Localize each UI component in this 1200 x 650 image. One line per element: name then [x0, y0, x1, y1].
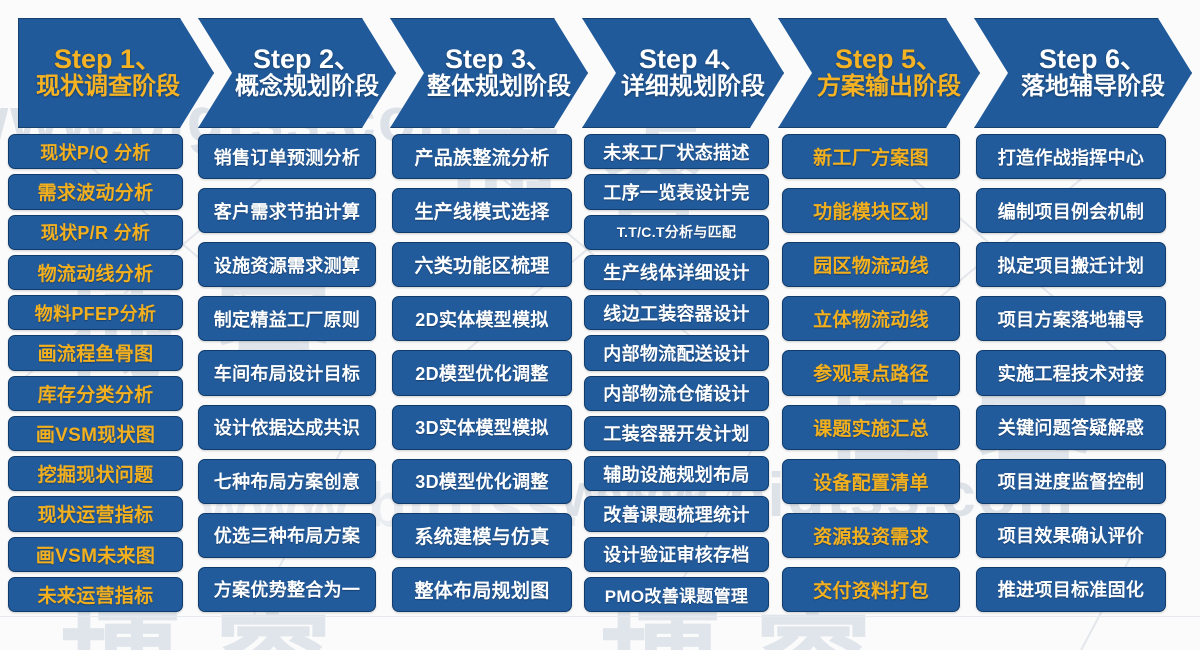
- bottom-divider: [0, 616, 1200, 617]
- step-chevron-6-line2: 落地辅导阶段: [985, 74, 1200, 101]
- task-pill[interactable]: 实施工程技术对接: [976, 350, 1166, 395]
- step-chevron-1[interactable]: Step 1、 现状调查阶段: [18, 18, 214, 128]
- task-pill[interactable]: 立体物流动线: [782, 296, 960, 341]
- step-chevron-3-inner: Step 3、 整体规划阶段: [401, 45, 597, 100]
- task-pill[interactable]: 销售订单预测分析: [198, 134, 376, 179]
- task-pill[interactable]: 3D模型优化调整: [392, 459, 572, 504]
- task-pill[interactable]: 设计验证审核存档: [584, 537, 769, 572]
- step-chevron-4-inner: Step 4、 详细规划阶段: [593, 45, 793, 100]
- task-pill[interactable]: 项目效果确认评价: [976, 513, 1166, 558]
- step-chevron-1-line2: 现状调查阶段: [11, 74, 205, 101]
- task-pill[interactable]: T.T/C.T分析与匹配: [584, 215, 769, 250]
- task-pill[interactable]: 方案优势整合为一: [198, 567, 376, 612]
- task-pill[interactable]: 改善课题梳理统计: [584, 496, 769, 531]
- step-chevron-3-line1: Step 3、: [401, 45, 597, 74]
- step-header-row: Step 1、 现状调查阶段 Step 2、 概念规划阶段 Step 3、 整体…: [0, 18, 1200, 128]
- task-pill[interactable]: 七种布局方案创意: [198, 459, 376, 504]
- task-pill[interactable]: 六类功能区梳理: [392, 242, 572, 287]
- step-chevron-2-inner: Step 2、 概念规划阶段: [209, 45, 405, 100]
- step-chevron-2[interactable]: Step 2、 概念规划阶段: [198, 18, 396, 128]
- task-pill[interactable]: 画流程鱼骨图: [8, 335, 183, 370]
- task-pill[interactable]: 未来工厂状态描述: [584, 134, 769, 169]
- task-pill[interactable]: 参观景点路径: [782, 350, 960, 395]
- task-pill[interactable]: 工装容器开发计划: [584, 416, 769, 451]
- task-pill[interactable]: 功能模块区划: [782, 188, 960, 233]
- task-pill[interactable]: 资源投资需求: [782, 513, 960, 558]
- task-pill[interactable]: 整体布局规划图: [392, 567, 572, 612]
- task-pill[interactable]: 画VSM未来图: [8, 537, 183, 572]
- task-pill[interactable]: 客户需求节拍计算: [198, 188, 376, 233]
- step-chevron-1-inner: Step 1、 现状调查阶段: [11, 45, 205, 100]
- task-pill[interactable]: 画VSM现状图: [8, 416, 183, 451]
- task-column-1: 现状P/Q 分析需求波动分析现状P/R 分析物流动线分析物料PFEP分析画流程鱼…: [8, 134, 183, 612]
- task-pill[interactable]: 内部物流仓储设计: [584, 376, 769, 411]
- step-chevron-4-line1: Step 4、: [593, 45, 793, 74]
- task-pill[interactable]: 库存分类分析: [8, 376, 183, 411]
- task-pill[interactable]: 物料PFEP分析: [8, 295, 183, 330]
- task-pill[interactable]: 现状P/Q 分析: [8, 134, 183, 169]
- task-pill[interactable]: 设施资源需求测算: [198, 242, 376, 287]
- task-pill[interactable]: 产品族整流分析: [392, 134, 572, 179]
- step-chevron-2-line2: 概念规划阶段: [209, 74, 405, 101]
- task-pill[interactable]: 园区物流动线: [782, 242, 960, 287]
- step-chevron-6-inner: Step 6、 落地辅导阶段: [985, 45, 1200, 100]
- step-chevron-6[interactable]: Step 6、 落地辅导阶段: [974, 18, 1192, 128]
- task-column-6: 打造作战指挥中心编制项目例会机制拟定项目搬迁计划项目方案落地辅导实施工程技术对接…: [976, 134, 1166, 612]
- task-pill[interactable]: 工序一览表设计完: [584, 174, 769, 209]
- task-pill[interactable]: 生产线模式选择: [392, 188, 572, 233]
- task-pill[interactable]: 未来运营指标: [8, 577, 183, 612]
- task-pill[interactable]: 新工厂方案图: [782, 134, 960, 179]
- step-chevron-5-line1: Step 5、: [789, 45, 989, 74]
- task-pill[interactable]: 车间布局设计目标: [198, 350, 376, 395]
- task-pill[interactable]: 现状P/R 分析: [8, 215, 183, 250]
- task-pill[interactable]: 3D实体模型模拟: [392, 405, 572, 450]
- task-pill[interactable]: 项目方案落地辅导: [976, 296, 1166, 341]
- task-pill[interactable]: 编制项目例会机制: [976, 188, 1166, 233]
- step-chevron-5-line2: 方案输出阶段: [789, 74, 989, 101]
- step-chevron-4[interactable]: Step 4、 详细规划阶段: [582, 18, 784, 128]
- task-pill[interactable]: 打造作战指挥中心: [976, 134, 1166, 179]
- task-pill[interactable]: 生产线体详细设计: [584, 255, 769, 290]
- task-pill[interactable]: 关键问题答疑解惑: [976, 405, 1166, 450]
- task-pill[interactable]: 项目进度监督控制: [976, 459, 1166, 504]
- task-pill[interactable]: 内部物流配送设计: [584, 335, 769, 370]
- task-column-5: 新工厂方案图功能模块区划园区物流动线立体物流动线参观景点路径课题实施汇总设备配置…: [782, 134, 960, 612]
- task-pill[interactable]: 辅助设施规划布局: [584, 456, 769, 491]
- task-pill[interactable]: 现状运营指标: [8, 496, 183, 531]
- task-columns: 现状P/Q 分析需求波动分析现状P/R 分析物流动线分析物料PFEP分析画流程鱼…: [0, 134, 1200, 616]
- task-pill[interactable]: 制定精益工厂原则: [198, 296, 376, 341]
- step-chevron-5[interactable]: Step 5、 方案输出阶段: [778, 18, 980, 128]
- step-chevron-2-line1: Step 2、: [209, 45, 405, 74]
- task-column-4: 未来工厂状态描述工序一览表设计完T.T/C.T分析与匹配生产线体详细设计线边工装…: [584, 134, 769, 612]
- task-pill[interactable]: 设计依据达成共识: [198, 405, 376, 450]
- task-pill[interactable]: 拟定项目搬迁计划: [976, 242, 1166, 287]
- task-pill[interactable]: 2D模型优化调整: [392, 350, 572, 395]
- task-column-3: 产品族整流分析生产线模式选择六类功能区梳理2D实体模型模拟2D模型优化调整3D实…: [392, 134, 572, 612]
- task-pill[interactable]: 线边工装容器设计: [584, 295, 769, 330]
- task-pill[interactable]: 系统建模与仿真: [392, 513, 572, 558]
- diagram-canvas: www.bigtss.com www.bigtss.com www.bigtss…: [0, 0, 1200, 650]
- task-pill[interactable]: 交付资料打包: [782, 567, 960, 612]
- task-pill[interactable]: 优选三种布局方案: [198, 513, 376, 558]
- step-chevron-1-line1: Step 1、: [11, 45, 205, 74]
- step-chevron-6-line1: Step 6、: [985, 45, 1200, 74]
- task-column-2: 销售订单预测分析客户需求节拍计算设施资源需求测算制定精益工厂原则车间布局设计目标…: [198, 134, 376, 612]
- step-chevron-4-line2: 详细规划阶段: [593, 74, 793, 101]
- step-chevron-3[interactable]: Step 3、 整体规划阶段: [390, 18, 588, 128]
- step-chevron-5-inner: Step 5、 方案输出阶段: [789, 45, 989, 100]
- task-pill[interactable]: 需求波动分析: [8, 174, 183, 209]
- task-pill[interactable]: 课题实施汇总: [782, 405, 960, 450]
- task-pill[interactable]: 2D实体模型模拟: [392, 296, 572, 341]
- task-pill[interactable]: 推进项目标准固化: [976, 567, 1166, 612]
- task-pill[interactable]: 挖掘现状问题: [8, 456, 183, 491]
- task-pill[interactable]: 物流动线分析: [8, 255, 183, 290]
- task-pill[interactable]: 设备配置清单: [782, 459, 960, 504]
- step-chevron-3-line2: 整体规划阶段: [401, 74, 597, 101]
- task-pill[interactable]: PMO改善课题管理: [584, 577, 769, 612]
